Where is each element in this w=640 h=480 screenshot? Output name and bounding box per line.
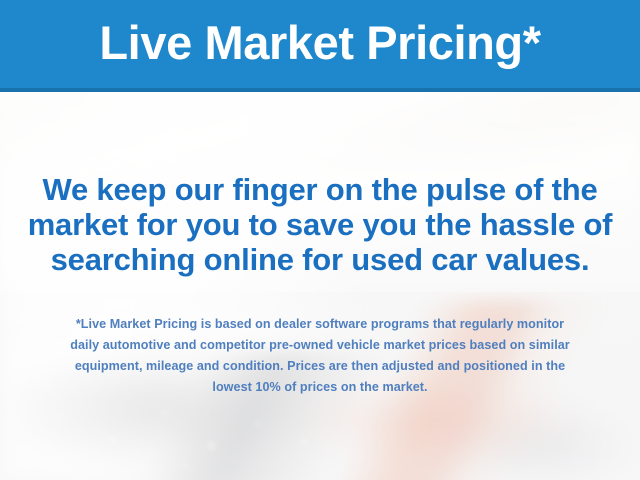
- headline: We keep our finger on the pulse of the m…: [20, 172, 620, 277]
- headline-line-1: We keep our finger on the pulse of the: [20, 172, 620, 207]
- headline-line-3: searching online for used car values.: [20, 242, 620, 277]
- header-band: Live Market Pricing*: [0, 0, 640, 92]
- headline-line-2: market for you to save you the hassle of: [20, 207, 620, 242]
- disclaimer-text: *Live Market Pricing is based on dealer …: [28, 314, 612, 398]
- page-title: Live Market Pricing*: [99, 19, 540, 69]
- disclaimer-line-1: *Live Market Pricing is based on dealer …: [28, 314, 612, 335]
- disclaimer-line-4: lowest 10% of prices on the market.: [28, 377, 612, 398]
- disclaimer-line-3: equipment, mileage and condition. Prices…: [28, 356, 612, 377]
- live-market-pricing-banner: Live Market Pricing* We keep our finger …: [0, 0, 640, 480]
- disclaimer-line-2: daily automotive and competitor pre-owne…: [28, 335, 612, 356]
- content-area: We keep our finger on the pulse of the m…: [0, 96, 640, 480]
